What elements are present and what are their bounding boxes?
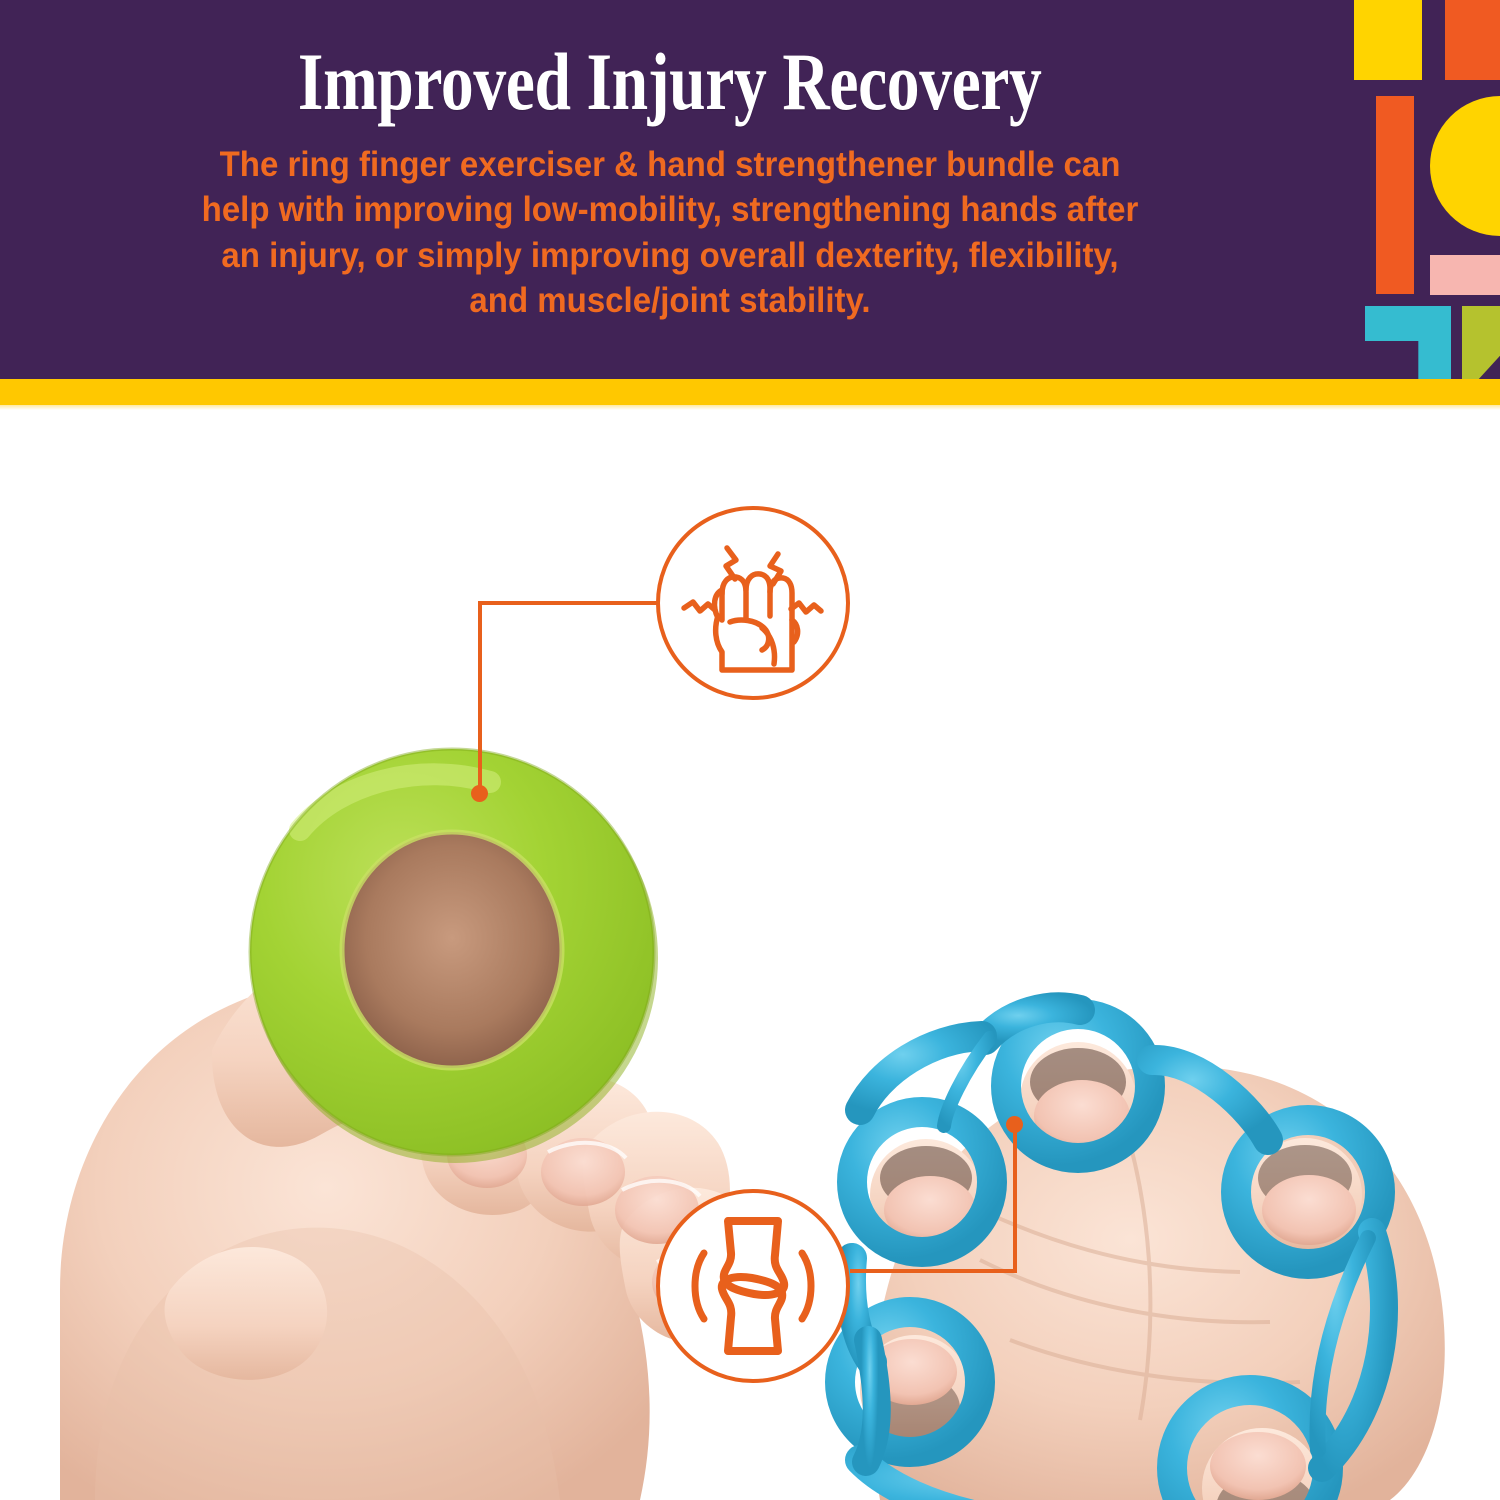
- product-photo-area: [0, 410, 1500, 1500]
- orange-vertical-bar: [1376, 96, 1414, 294]
- subtitle-line-4: and muscle/joint stability.: [149, 278, 1191, 323]
- teal-step-shape: [1365, 306, 1451, 379]
- banner-text-block: Improved Injury Recovery The ring finger…: [0, 0, 1340, 379]
- header-banner: Improved Injury Recovery The ring finger…: [0, 0, 1500, 379]
- grip-strength-callout-circle[interactable]: [656, 506, 850, 700]
- joint-mobility-callout-circle[interactable]: [656, 1189, 850, 1383]
- subtitle-line-2: help with improving low-mobility, streng…: [149, 187, 1191, 232]
- subtitle-line-1: The ring finger exerciser & hand strengt…: [149, 142, 1191, 187]
- callout-top-horizontal-line: [478, 601, 660, 605]
- clenched-fist-pain-icon: [660, 510, 846, 696]
- pink-rectangle: [1430, 255, 1500, 295]
- callout-top-vertical-line: [478, 601, 482, 793]
- callout-top-anchor-dot: [471, 785, 488, 802]
- yellow-rectangle-top-left: [1354, 0, 1422, 80]
- bone-joint-pain-icon: [660, 1193, 846, 1379]
- geometric-decoration: [1340, 0, 1500, 379]
- callout-bottom-anchor-dot: [1006, 1116, 1023, 1133]
- callout-bottom-horizontal-line: [850, 1269, 1017, 1273]
- callout-bottom-vertical-line: [1013, 1123, 1017, 1273]
- yellow-circle: [1430, 96, 1500, 236]
- accent-bar: [0, 379, 1500, 405]
- page-title: Improved Injury Recovery: [298, 42, 1041, 122]
- orange-rectangle-top-right: [1445, 0, 1500, 80]
- banner-subtitle: The ring finger exerciser & hand strengt…: [149, 142, 1191, 322]
- olive-triangle: [1462, 306, 1500, 379]
- subtitle-line-3: an injury, or simply improving overall d…: [149, 233, 1191, 278]
